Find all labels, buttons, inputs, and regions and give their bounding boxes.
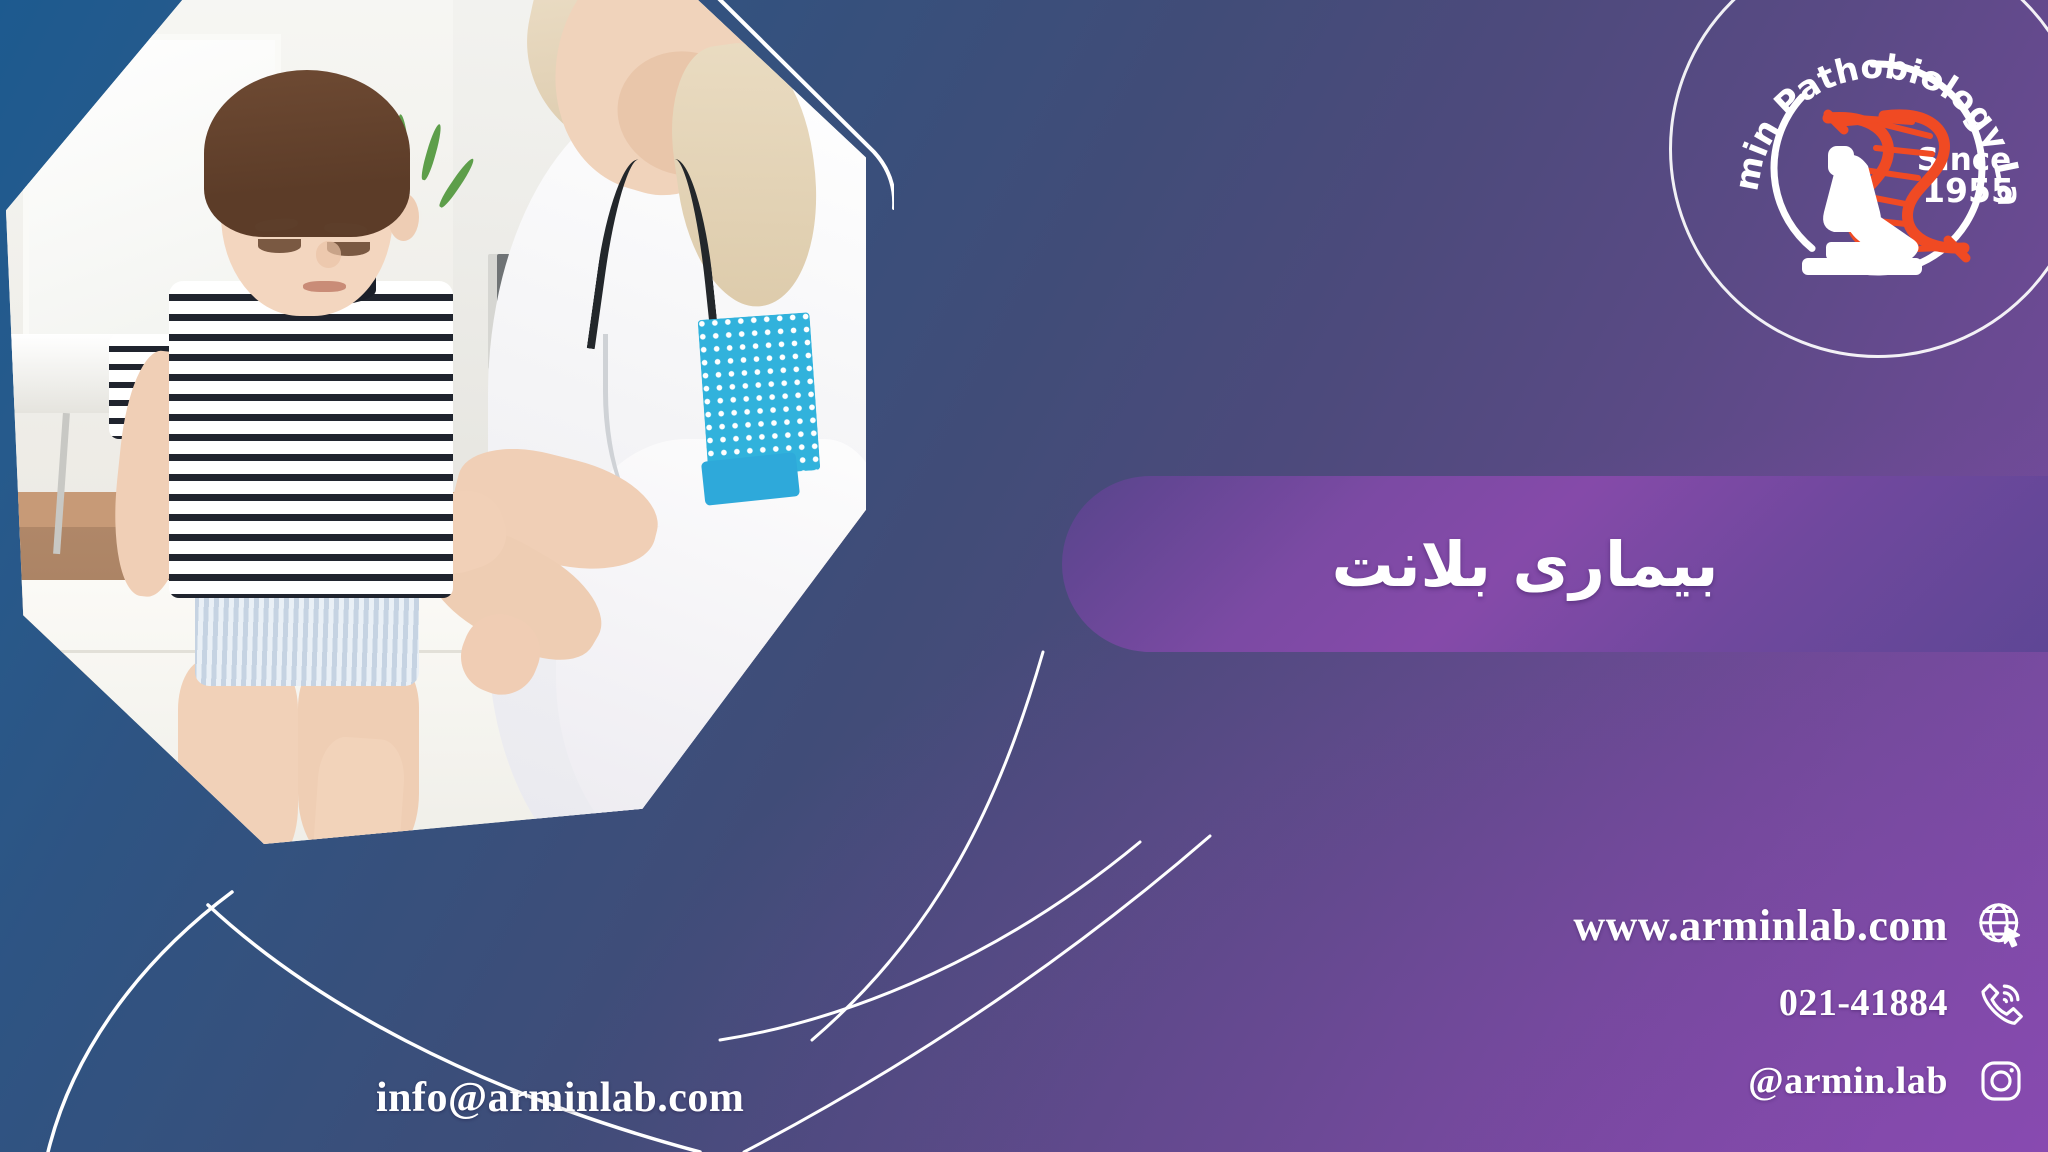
instagram-text: @armin.lab [1748,1059,1948,1103]
contact-row-telephone[interactable]: 021-41884 [1573,976,2028,1030]
contact-block: www.arminlab.com 021-41884 [1573,898,2028,1108]
title-banner: بیماری بلانت [1062,476,2048,652]
hero-photo [6,0,866,844]
email-text[interactable]: info@arminlab.com [376,1074,744,1122]
telephone-text: 021-41884 [1779,981,1948,1025]
photo-boy-mouth [303,281,346,292]
website-text: www.arminlab.com [1573,900,1948,951]
instagram-icon [1974,1054,2028,1108]
poster-canvas: بیماری بلانت Armin Pathobiology Lab Sinc… [0,0,2048,1152]
clinic-photo-illustration [6,0,866,844]
photo-boy-leg-left [178,659,298,844]
photo-boy-nose [316,241,342,267]
photo-boy-eyelid [258,239,301,253]
photo-boy-shin [311,736,407,844]
phone-icon [1974,976,2028,1030]
globe-cursor-icon [1974,898,2028,952]
contact-row-website[interactable]: www.arminlab.com [1573,898,2028,952]
page-title: بیماری بلانت [1332,528,1779,601]
contact-row-instagram[interactable]: @armin.lab [1573,1054,2028,1108]
photo-boy-hair [204,70,410,237]
armin-lab-logo[interactable]: Armin Pathobiology Lab Since 1955 [1716,18,2040,304]
photo-boy-striped-shirt [169,281,453,598]
photo-blue-dotted-object [697,312,820,478]
